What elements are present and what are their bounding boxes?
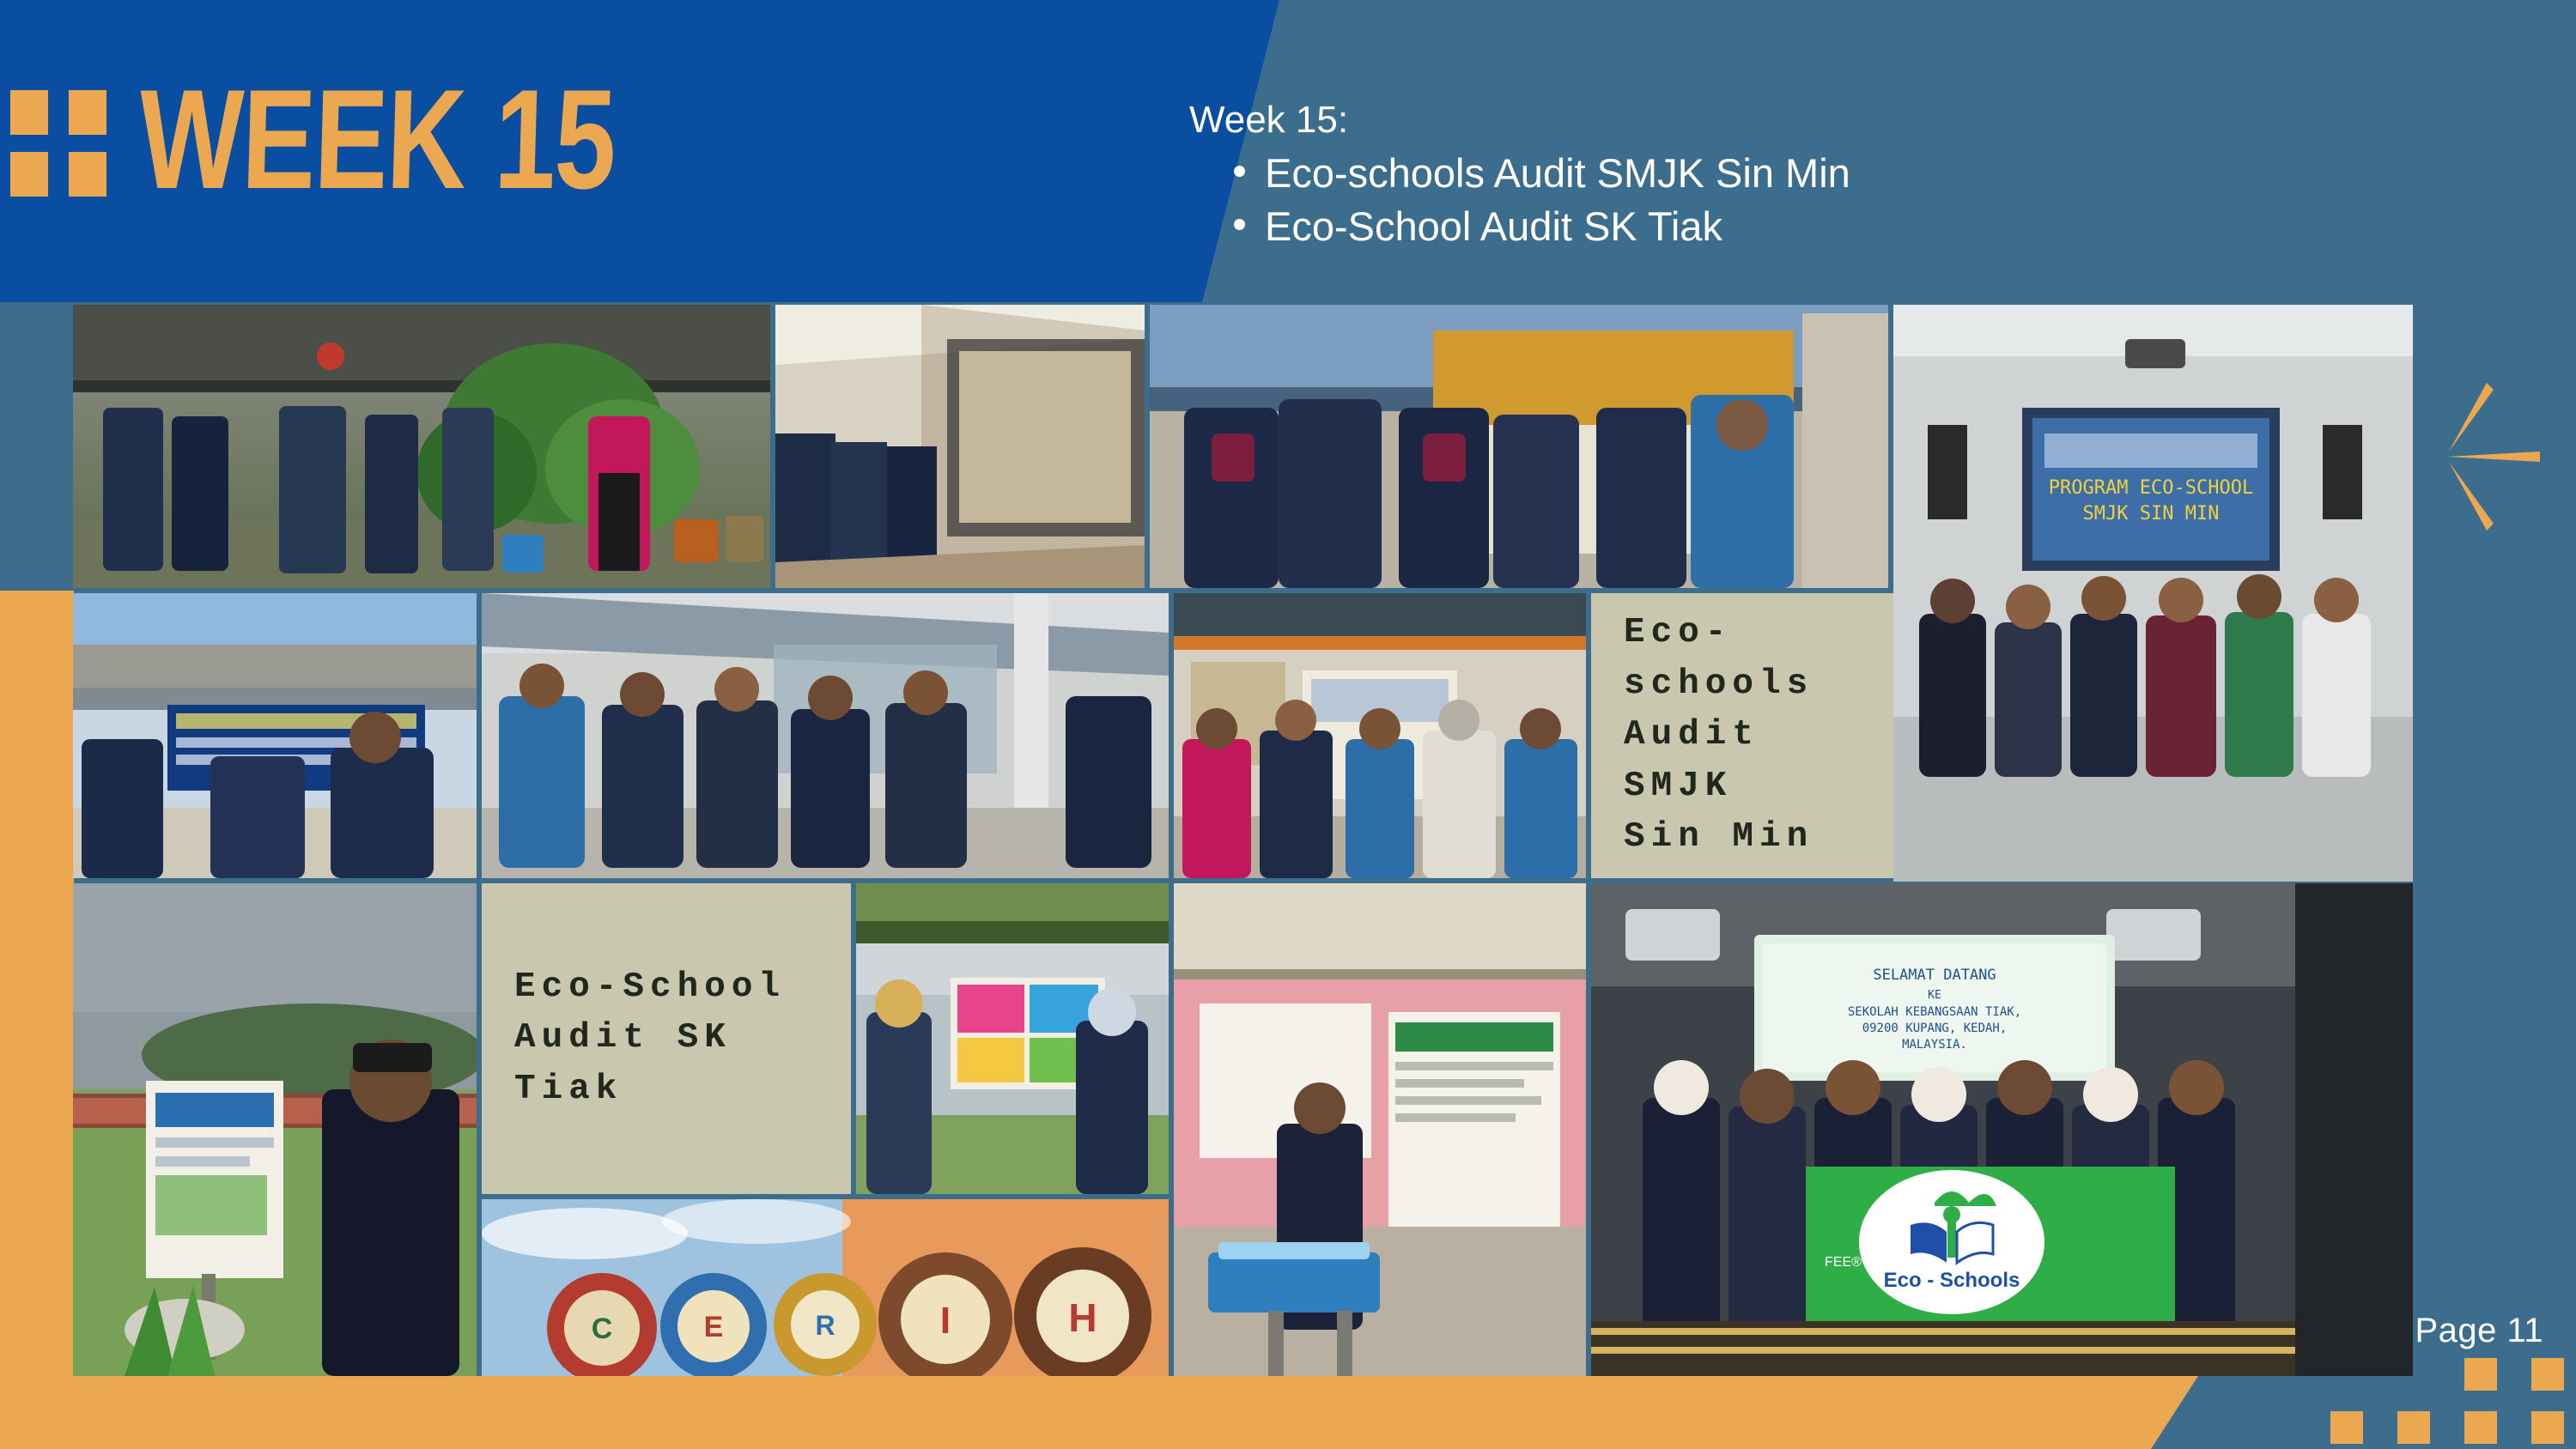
photo-walkway-microphone — [1150, 305, 1888, 588]
agenda-item: Eco-schools Audit SMJK Sin Min — [1234, 147, 2220, 200]
slide-title-group: WEEK 15 — [0, 82, 749, 197]
svg-text:E: E — [704, 1311, 724, 1343]
photo-poster-water-filtration — [1174, 883, 1586, 1376]
photo-auditorium-presentation: PROGRAM ECO-SCHOOL SMJK SIN MIN — [1893, 305, 2413, 882]
bottom-accent-band — [0, 1376, 2198, 1449]
photo-eco-schools-flag-stage: SELAMAT DATANG KE SEKOLAH KEBANGSAAN TIA… — [1591, 883, 2413, 1376]
photo-cartwheel-letters: C E R I — [482, 1199, 1169, 1376]
caption-eco-schools-smjk: Eco-schools Audit SMJK Sin Min — [1591, 593, 1893, 878]
agenda-heading: Week 15: — [1189, 96, 2220, 143]
svg-text:I: I — [940, 1300, 951, 1342]
svg-text:SEKOLAH KEBANGSAAN TIAK,: SEKOLAH KEBANGSAAN TIAK, — [1848, 1005, 2021, 1019]
caption-text-2: Eco-School Audit SK Tiak — [482, 962, 851, 1115]
photo-collage: PROGRAM ECO-SCHOOL SMJK SIN MIN — [73, 305, 2413, 1376]
photo-indoor-assessment — [1174, 593, 1586, 878]
svg-text:MALAYSIA.: MALAYSIA. — [1902, 1038, 1967, 1052]
svg-text:PROGRAM ECO-SCHOOL: PROGRAM ECO-SCHOOL — [2049, 477, 2253, 499]
svg-text:SMJK SIN MIN: SMJK SIN MIN — [2083, 503, 2220, 524]
svg-text:C: C — [592, 1313, 613, 1345]
square-pattern-icon — [2233, 1358, 2576, 1449]
sunburst-icon — [2447, 371, 2576, 543]
caption-text-1: Eco-schools Audit SMJK Sin Min — [1591, 608, 1893, 863]
agenda-list: Eco-schools Audit SMJK Sin Min Eco-Schoo… — [1189, 147, 2220, 253]
agenda-block: Week 15: Eco-schools Audit SMJK Sin Min … — [1189, 96, 2220, 253]
svg-text:09200 KUPANG, KEDAH,: 09200 KUPANG, KEDAH, — [1862, 1022, 2008, 1035]
photo-corridor-displays — [775, 305, 1145, 588]
page-title: WEEK 15 — [137, 82, 617, 197]
svg-text:H: H — [1068, 1295, 1097, 1340]
page-number: Page 11 — [2415, 1312, 2543, 1350]
svg-text:Eco - Schools: Eco - Schools — [1884, 1269, 2020, 1292]
photo-school-sign-board — [73, 593, 477, 878]
caption-eco-school-sk-tiak: Eco-School Audit SK Tiak — [482, 883, 851, 1194]
slide-canvas: PROGRAM ECO-SCHOOL SMJK SIN MIN — [0, 0, 2576, 1449]
agenda-item: Eco-School Audit SK Tiak — [1234, 200, 2220, 253]
photo-student-poster-field — [73, 883, 477, 1376]
svg-text:SELAMAT DATANG: SELAMAT DATANG — [1873, 967, 1996, 984]
photo-courtyard-garden — [73, 305, 770, 588]
dot-grid-icon — [10, 90, 110, 190]
photo-students-posters-garden — [856, 883, 1169, 1194]
svg-text:R: R — [815, 1310, 835, 1341]
left-accent-band — [0, 591, 74, 1449]
svg-text:FEE®: FEE® — [1825, 1255, 1862, 1270]
photo-open-walkway-recycling — [482, 593, 1169, 878]
svg-text:KE: KE — [1928, 989, 1941, 1002]
